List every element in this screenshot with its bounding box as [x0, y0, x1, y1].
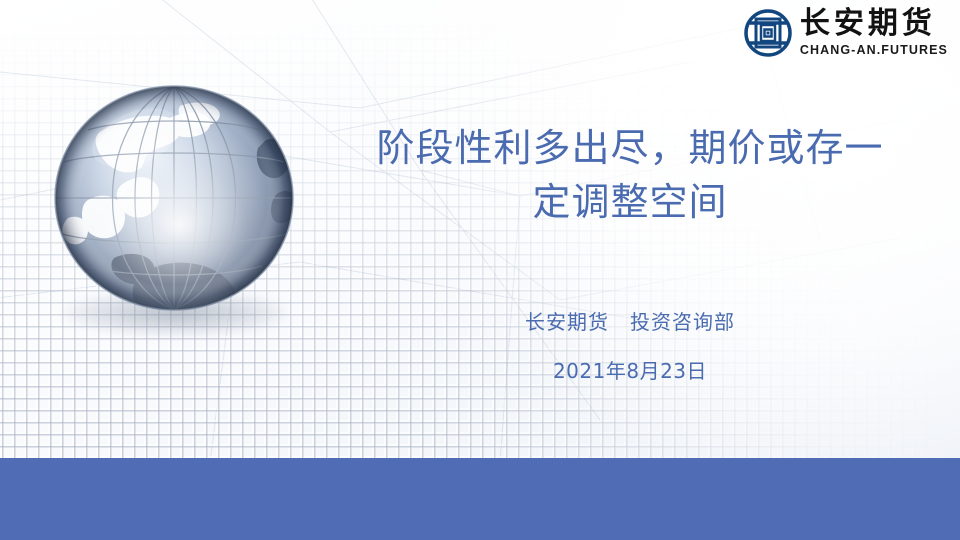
logo-company-name-cn: 长安期货 — [800, 9, 936, 39]
logo-text-block: 长安期货 CHANG-AN.FUTURES — [800, 9, 948, 57]
brand-logo: 长安期货 CHANG-AN.FUTURES — [743, 8, 948, 58]
logo-company-name-en: CHANG-AN.FUTURES — [800, 44, 948, 57]
subtitle-date: 2021年8月23日 — [330, 355, 930, 384]
title-line-1: 阶段性利多出尽，期价或存一 — [330, 122, 930, 176]
title-slide: 长安期货 CHANG-AN.FUTURES 阶段性利多出尽，期价或存一 定调整空… — [0, 0, 960, 540]
subtitle-department: 长安期货 投资咨询部 — [330, 306, 930, 335]
page-title: 阶段性利多出尽，期价或存一 定调整空间 — [330, 122, 930, 230]
subtitle-block: 长安期货 投资咨询部 2021年8月23日 — [330, 306, 930, 384]
globe-shadow — [62, 290, 288, 336]
chang-an-futures-logo-mark — [743, 8, 793, 58]
globe-earth-graphic — [34, 76, 314, 344]
bottom-accent-bar — [0, 458, 960, 540]
title-line-2: 定调整空间 — [330, 176, 930, 230]
